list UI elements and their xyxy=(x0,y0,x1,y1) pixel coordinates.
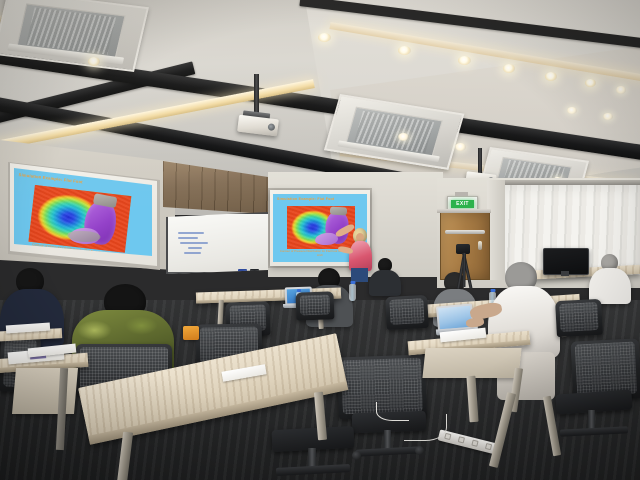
water-bottle-1[interactable] xyxy=(349,284,356,301)
downlight-6 xyxy=(585,79,596,87)
chair-caster-2 xyxy=(415,446,424,455)
door-frame-top xyxy=(437,209,491,213)
projector-front-rod xyxy=(254,74,259,114)
chair-back-2[interactable] xyxy=(385,295,429,330)
exit-sign-label: EXIT xyxy=(456,202,469,207)
chair-back-3[interactable] xyxy=(555,299,603,337)
downlight-9 xyxy=(398,133,409,141)
projector-front-lens xyxy=(267,123,275,131)
presenter-legs xyxy=(351,268,368,282)
presenter-body xyxy=(349,241,372,271)
projection-screen-left: Simulation Example: Flat Foot Contour of… xyxy=(10,163,157,267)
monitor-stand xyxy=(561,271,569,276)
exit-sign-bracket xyxy=(455,192,468,196)
orange-device[interactable] xyxy=(183,326,199,340)
downlight-2 xyxy=(398,46,411,55)
tripod-leg-3 xyxy=(462,253,466,287)
chair-caster-1 xyxy=(352,451,361,460)
power-cable-2 xyxy=(376,402,409,421)
table-front-right-panel xyxy=(422,348,521,378)
door-push-bar[interactable] xyxy=(445,230,485,234)
slide-right-title: Simulation Example: Flat Foot xyxy=(277,197,334,201)
slide-left: Simulation Example: Flat Foot Contour of… xyxy=(14,168,152,258)
whiteboard-marker-2[interactable] xyxy=(250,269,259,272)
whiteboard xyxy=(166,212,272,278)
seminar-room-photo: Simulation Example: Flat Foot Contour of… xyxy=(0,0,640,480)
chair-back-4[interactable] xyxy=(296,291,335,320)
downlight-12 xyxy=(603,113,613,120)
person-presenter xyxy=(336,218,378,280)
downlight-1 xyxy=(318,33,331,42)
slide-right-foot-plate xyxy=(330,206,348,215)
downlight-8 xyxy=(88,57,100,66)
table-front-left-panel xyxy=(12,368,78,414)
slide-left-title: Simulation Example: Flat Foot xyxy=(18,172,83,184)
downlight-11 xyxy=(567,107,577,114)
downlight-5 xyxy=(545,72,557,81)
projector-rear-rod xyxy=(478,148,482,175)
projector-front xyxy=(237,115,279,137)
power-cable xyxy=(404,414,447,441)
blinds-rail xyxy=(500,180,640,185)
whiteboard-marker-1[interactable] xyxy=(238,269,247,272)
downlight-3 xyxy=(458,56,471,65)
door-handle[interactable] xyxy=(478,241,482,250)
downlight-4 xyxy=(503,64,515,73)
slide-left-heatmap xyxy=(28,185,131,253)
downlight-10 xyxy=(455,143,466,151)
downlight-7 xyxy=(616,86,626,94)
